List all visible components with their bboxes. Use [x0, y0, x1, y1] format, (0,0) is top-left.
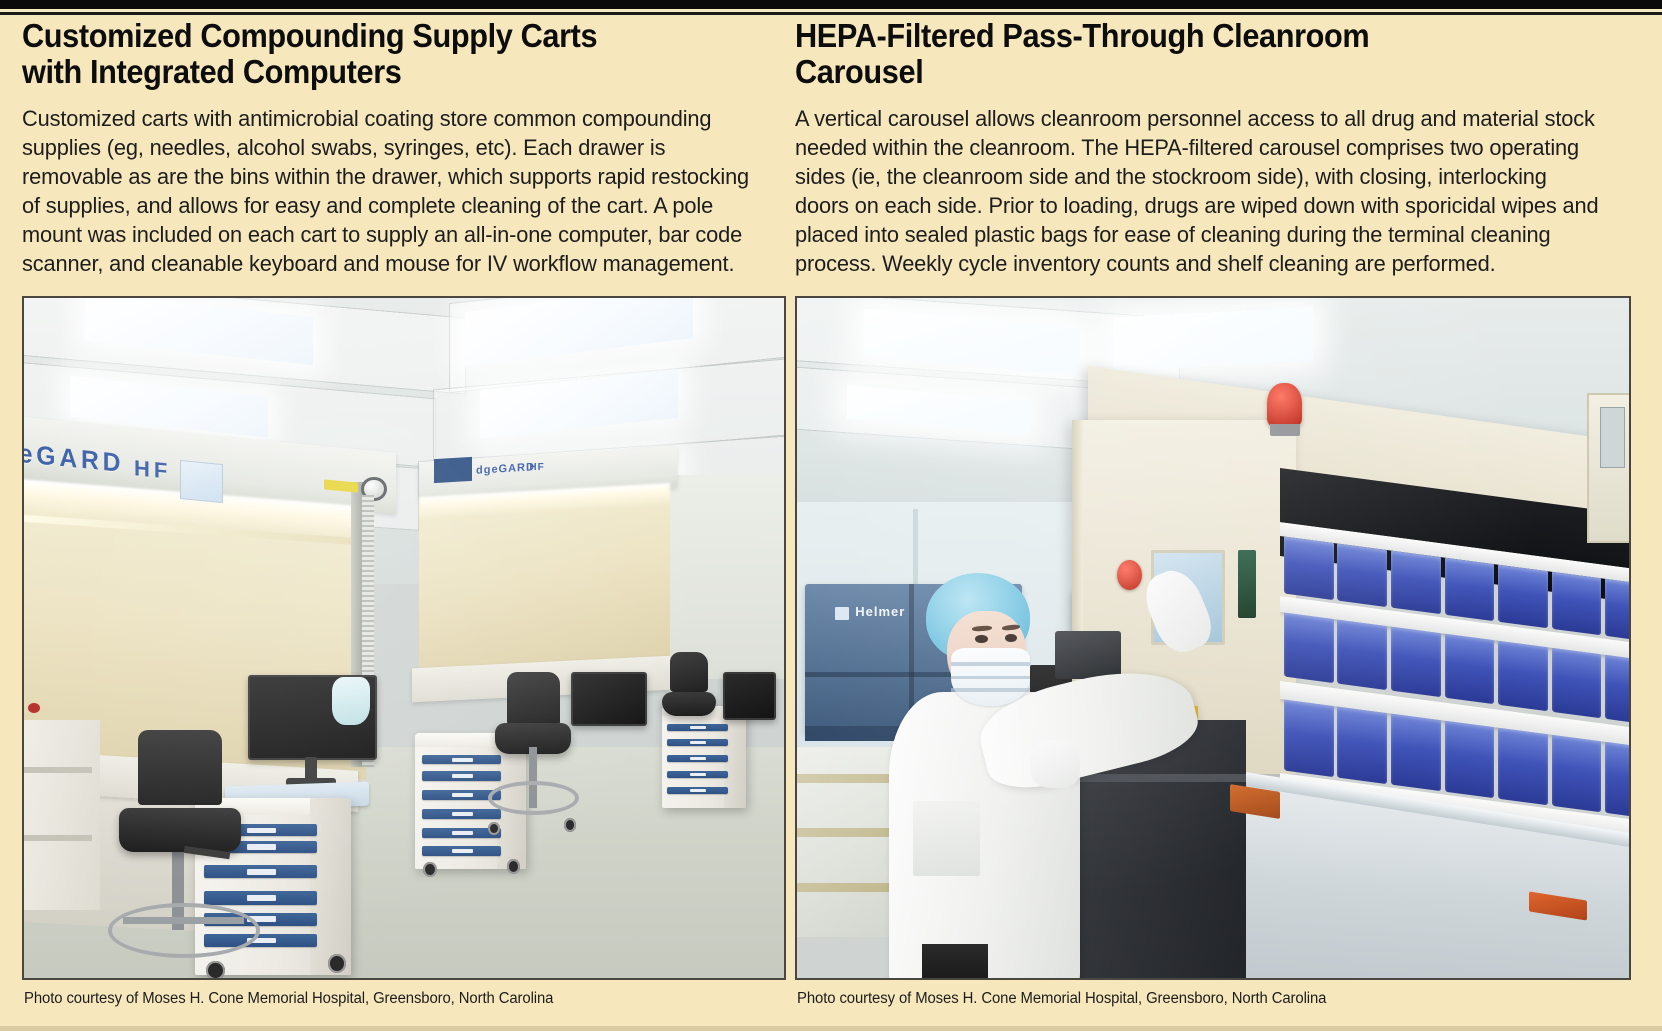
bar-code-scanner[interactable]: [332, 677, 370, 725]
storage-bin[interactable]: [1391, 551, 1441, 614]
storage-bin[interactable]: [1283, 613, 1333, 683]
lab-stool-backrest[interactable]: [507, 672, 560, 726]
helmer-brand-label: Helmer: [855, 604, 905, 619]
cart-caster: [206, 961, 224, 980]
barcode-scanner-cradle[interactable]: [1055, 631, 1122, 679]
cleanroom-carts-scene: eGARD HF dgeGARD HF: [24, 298, 784, 978]
cart-caster: [423, 862, 437, 877]
lab-stool-footring: [488, 781, 579, 815]
emergency-stop-button[interactable]: [1117, 560, 1142, 590]
storage-bin[interactable]: [1551, 572, 1601, 635]
storage-bin[interactable]: [1551, 648, 1601, 718]
cart-drawer[interactable]: [204, 865, 316, 878]
lab-stool-caster: [488, 822, 500, 836]
storage-bin[interactable]: [1498, 728, 1548, 805]
mask-pleat: [951, 676, 1030, 679]
storage-bin[interactable]: [1605, 742, 1631, 820]
right-photo-caption: Photo courtesy of Moses H. Cone Memorial…: [797, 990, 1326, 1008]
cart-caster: [507, 859, 521, 874]
storage-bin[interactable]: [1605, 655, 1631, 726]
lab-stool-base-spoke: [123, 917, 245, 924]
lab-stool-seat[interactable]: [119, 808, 241, 852]
cart-drawer[interactable]: [667, 771, 727, 778]
left-column: Customized Compounding Supply Carts with…: [22, 18, 786, 278]
mask-pleat: [951, 662, 1030, 665]
left-headline-line2: with Integrated Computers: [22, 53, 401, 90]
lab-stool-caster: [564, 818, 576, 832]
helmer-logo-mark: [835, 607, 848, 621]
cart-drawer[interactable]: [422, 755, 501, 765]
gown-pocket: [913, 801, 980, 876]
compounding-supply-cart[interactable]: [662, 706, 746, 808]
mask-pleat: [951, 688, 1030, 691]
top-rule-thick: [0, 0, 1662, 9]
carousel-cleanroom-scene: Helmer lmer: [797, 298, 1629, 978]
left-photo-caption: Photo courtesy of Moses H. Cone Memorial…: [24, 990, 553, 1008]
storage-bin[interactable]: [1444, 721, 1494, 798]
left-body-text: Customized carts with antimicrobial coat…: [22, 104, 759, 278]
hood-certification-sticker: [180, 460, 223, 504]
top-rule-thin: [0, 12, 1662, 15]
right-column: HEPA-Filtered Pass-Through Cleanroom Car…: [795, 18, 1631, 278]
technician-gloved-hand: [1030, 740, 1080, 788]
all-in-one-computer-monitor[interactable]: [723, 672, 776, 720]
cart-drawer[interactable]: [422, 846, 501, 856]
left-headline-line1: Customized Compounding Supply Carts: [22, 17, 597, 54]
cart-drawer[interactable]: [667, 787, 727, 794]
alarm-beacon-light: [1267, 383, 1302, 427]
carousel-status-indicator: [1238, 550, 1256, 618]
cart-drawer[interactable]: [667, 739, 727, 746]
hood-badge: [434, 457, 472, 484]
lab-stool-footring: [108, 903, 260, 957]
lab-stool-backrest[interactable]: [670, 652, 708, 693]
left-photo: eGARD HF dgeGARD HF: [22, 296, 786, 980]
cart-drawer[interactable]: [204, 891, 316, 904]
alarm-beacon-base: [1270, 424, 1300, 436]
storage-bin[interactable]: [1498, 565, 1548, 628]
technician-trousers: [922, 944, 989, 980]
lab-stool-seat[interactable]: [662, 692, 715, 716]
storage-bin[interactable]: [1444, 634, 1494, 704]
right-headline: HEPA-Filtered Pass-Through Cleanroom Car…: [795, 18, 1572, 91]
ceiling-light: [1113, 306, 1313, 371]
right-photo: Helmer lmer: [795, 296, 1631, 980]
article-page: Customized Compounding Supply Carts with…: [0, 0, 1662, 1031]
bottom-rule: [0, 1026, 1662, 1031]
storage-bin[interactable]: [1391, 627, 1441, 697]
hood-model-label: HF: [134, 455, 171, 485]
right-headline-line2: Carousel: [795, 53, 923, 90]
storage-bin[interactable]: [1283, 700, 1333, 777]
storage-bin[interactable]: [1551, 735, 1601, 812]
storage-bin[interactable]: [1605, 579, 1631, 643]
right-body-text: A vertical carousel allows cleanroom per…: [795, 104, 1602, 278]
storage-bin[interactable]: [1498, 641, 1548, 711]
storage-bin[interactable]: [1337, 620, 1387, 690]
storage-bin[interactable]: [1391, 714, 1441, 791]
carousel-door-window: [1600, 407, 1625, 468]
storage-bin[interactable]: [1444, 558, 1494, 621]
cabinet-seam: [22, 835, 92, 840]
all-in-one-computer-monitor[interactable]: [571, 672, 647, 726]
cart-drawer[interactable]: [422, 809, 501, 819]
base-cabinet: [22, 720, 100, 910]
back-wall: [662, 475, 786, 679]
left-headline: Customized Compounding Supply Carts with…: [22, 18, 733, 91]
storage-bin[interactable]: [1337, 544, 1387, 607]
hood-model-label-secondary: HF: [529, 462, 544, 473]
storage-bin[interactable]: [1337, 707, 1387, 784]
storage-bin[interactable]: [1283, 537, 1333, 600]
technician-eye: [1005, 634, 1017, 642]
right-headline-line1: HEPA-Filtered Pass-Through Cleanroom: [795, 17, 1369, 54]
cabinet-seam: [22, 767, 92, 772]
cart-drawer[interactable]: [667, 724, 727, 731]
lab-stool-backrest[interactable]: [138, 730, 222, 805]
cart-drawer[interactable]: [667, 755, 727, 762]
cart-drawer[interactable]: [422, 771, 501, 781]
